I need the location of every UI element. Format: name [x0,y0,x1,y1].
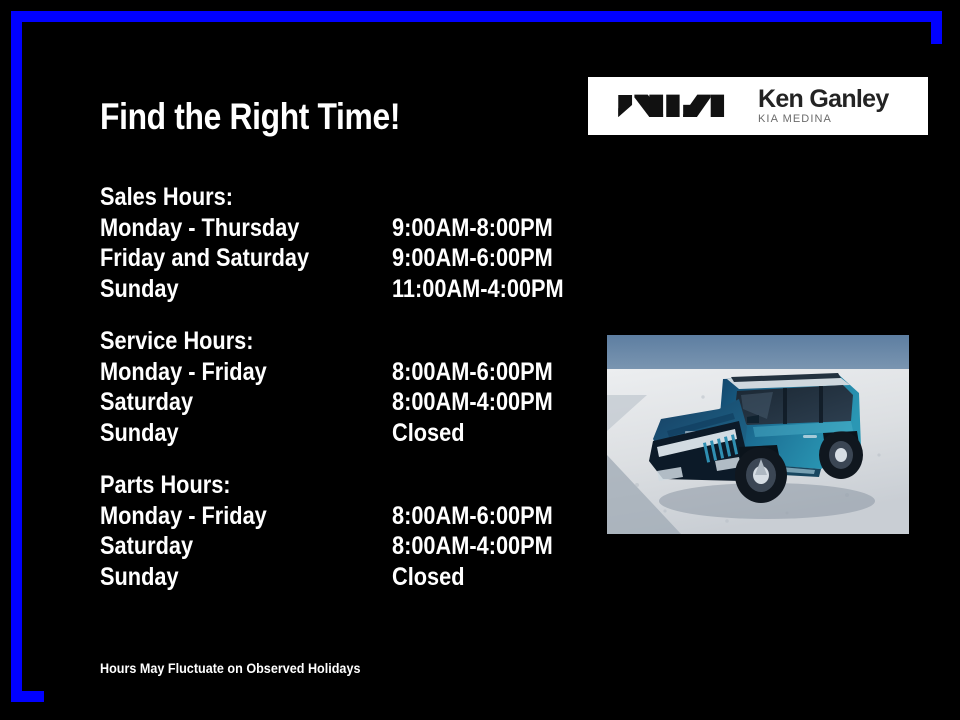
hours-row-day: Saturday [100,387,354,418]
slide-canvas: Find the Right Time! Sales Hours:Monday … [0,0,960,720]
hours-row: Monday - Friday8:00AM-6:00PM [100,501,570,532]
hours-row-time: 8:00AM-4:00PM [392,531,553,562]
hours-block-heading: Sales Hours: [100,182,509,213]
hours-row-day: Saturday [100,531,354,562]
page-title: Find the Right Time! [100,98,400,135]
dealer-logo-banner: Ken Ganley KIA MEDINA [588,77,928,135]
hours-row-day: Sunday [100,274,354,305]
hours-row-time: Closed [392,418,465,449]
hours-row: SundayClosed [100,562,570,593]
hours-list: Sales Hours:Monday - Thursday9:00AM-8:00… [100,182,570,614]
hours-row-day: Monday - Friday [100,501,354,532]
hours-row-time: 11:00AM-4:00PM [392,274,564,305]
hours-row-time: 8:00AM-6:00PM [392,357,553,388]
hours-block: Sales Hours:Monday - Thursday9:00AM-8:00… [100,182,570,304]
hours-row-day: Friday and Saturday [100,243,354,274]
slide-blue-border: Find the Right Time! Sales Hours:Monday … [11,11,942,702]
hours-row-time: 9:00AM-8:00PM [392,213,553,244]
hours-row: Monday - Thursday9:00AM-8:00PM [100,213,570,244]
dealer-location: KIA MEDINA [758,112,889,126]
hours-block: Service Hours:Monday - Friday8:00AM-6:00… [100,326,570,448]
hours-row-time: 8:00AM-6:00PM [392,501,553,532]
hours-row-day: Monday - Friday [100,357,354,388]
hours-row-time: 9:00AM-6:00PM [392,243,553,274]
hours-row: SundayClosed [100,418,570,449]
hours-block-heading: Service Hours: [100,326,509,357]
hours-row-day: Sunday [100,562,354,593]
hours-block-heading: Parts Hours: [100,470,509,501]
hours-row: Sunday11:00AM-4:00PM [100,274,570,305]
dealer-name: Ken Ganley [758,86,889,112]
hours-block: Parts Hours:Monday - Friday8:00AM-6:00PM… [100,470,570,592]
vehicle-photo [607,335,909,534]
hours-row-day: Sunday [100,418,354,449]
hours-row-day: Monday - Thursday [100,213,354,244]
hours-row: Saturday8:00AM-4:00PM [100,387,570,418]
slide-content-area: Find the Right Time! Sales Hours:Monday … [44,44,953,713]
kia-logo-icon [610,91,728,121]
hours-row: Friday and Saturday9:00AM-6:00PM [100,243,570,274]
hours-row-time: Closed [392,562,465,593]
hours-row: Saturday8:00AM-4:00PM [100,531,570,562]
holiday-disclaimer: Hours May Fluctuate on Observed Holidays [100,660,360,676]
dealer-name-block: Ken Ganley KIA MEDINA [758,86,889,126]
hours-row: Monday - Friday8:00AM-6:00PM [100,357,570,388]
hours-row-time: 8:00AM-4:00PM [392,387,553,418]
